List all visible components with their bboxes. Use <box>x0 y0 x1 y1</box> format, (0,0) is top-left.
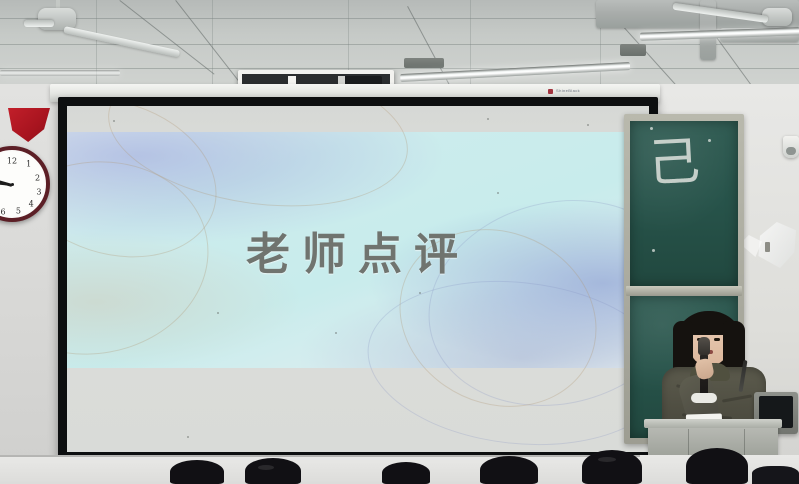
slide-title: 老师点评 <box>67 218 649 282</box>
clock-center-pin <box>11 183 14 186</box>
hair-highlight <box>598 457 616 462</box>
hair-highlight <box>258 465 274 470</box>
projector-screen-frame: 老师点评 <box>58 97 658 461</box>
microphone-base <box>691 393 717 403</box>
chalk-writing: 己 <box>647 136 694 192</box>
classroom-photo-scene: 12 1 2 3 4 5 6 ShineBlack <box>0 0 799 484</box>
clock-face: 12 1 2 3 4 5 6 <box>0 152 44 216</box>
ceiling-fan-left <box>10 0 170 50</box>
ceiling-sensor <box>783 136 799 158</box>
screen-speck <box>113 120 115 122</box>
tube-light-right <box>0 70 120 76</box>
projector-screen-surface: 老师点评 <box>67 106 649 452</box>
podium-top-surface <box>644 419 782 428</box>
screen-speck <box>487 118 489 120</box>
audience-shoulder <box>752 466 799 484</box>
audience-head <box>245 458 301 484</box>
ceiling-fan-right <box>690 0 799 40</box>
wall-hook <box>765 242 770 252</box>
tube-light-housing-center <box>620 44 646 56</box>
wall-skirting <box>0 455 640 457</box>
chalkboard-chalk-rail <box>626 286 742 296</box>
tube-light-housing-left <box>404 58 444 68</box>
audience-head <box>382 462 430 484</box>
chalkboard-upper-panel: 己 <box>630 121 738 286</box>
brand-logo-icon <box>548 89 553 94</box>
screen-brand-label: ShineBlack <box>556 88 580 93</box>
audience-head <box>582 450 642 484</box>
screen-speck <box>187 436 189 438</box>
screen-speck <box>587 124 589 126</box>
projected-slide: 老师点评 <box>67 132 649 368</box>
audience-head <box>686 448 748 484</box>
microphone-head <box>698 337 710 355</box>
audience-head <box>480 456 538 484</box>
audience-head <box>170 460 224 484</box>
